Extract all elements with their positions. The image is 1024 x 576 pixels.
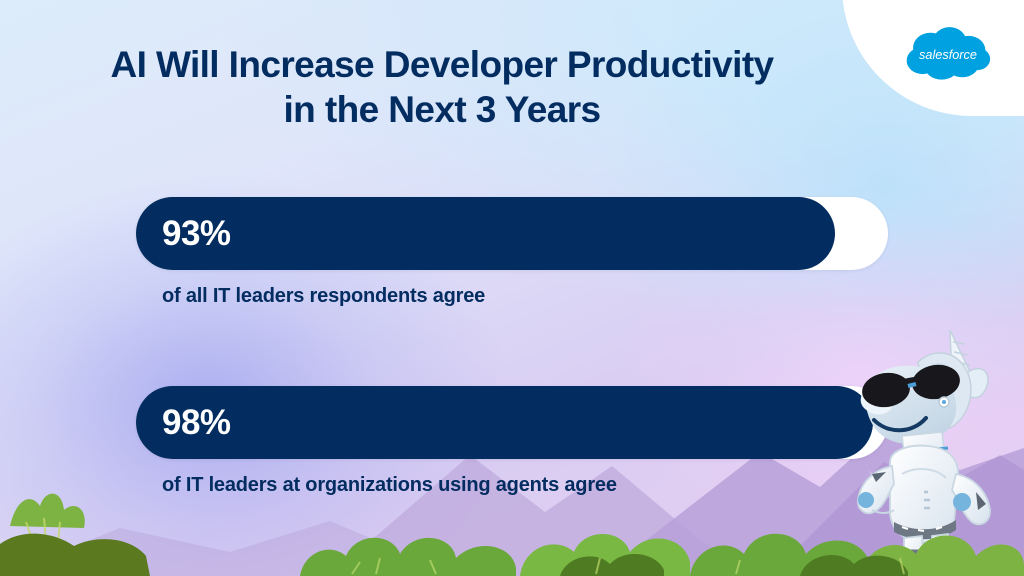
progress-track: 98% [136,386,888,459]
stat-percent-label: 93% [162,216,231,251]
progress-fill: 98% [136,386,873,459]
progress-fill: 93% [136,197,835,270]
title-line-1: AI Will Increase Developer Productivity [0,42,884,87]
stat-caption: of all IT leaders respondents agree [162,285,888,308]
progress-track: 93% [136,197,888,270]
foreground-grass [0,466,1024,576]
page-title: AI Will Increase Developer Productivity … [0,42,884,132]
logo-wordmark: salesforce [919,47,977,62]
title-line-2: in the Next 3 Years [0,87,884,132]
stat-list: 93% of all IT leaders respondents agree … [136,197,888,497]
stat-percent-label: 98% [162,405,231,440]
stat-row: 93% of all IT leaders respondents agree [136,197,888,308]
salesforce-cloud-logo: salesforce [900,24,996,86]
infographic-canvas: salesforce AI Will Increase Developer Pr… [0,0,1024,576]
